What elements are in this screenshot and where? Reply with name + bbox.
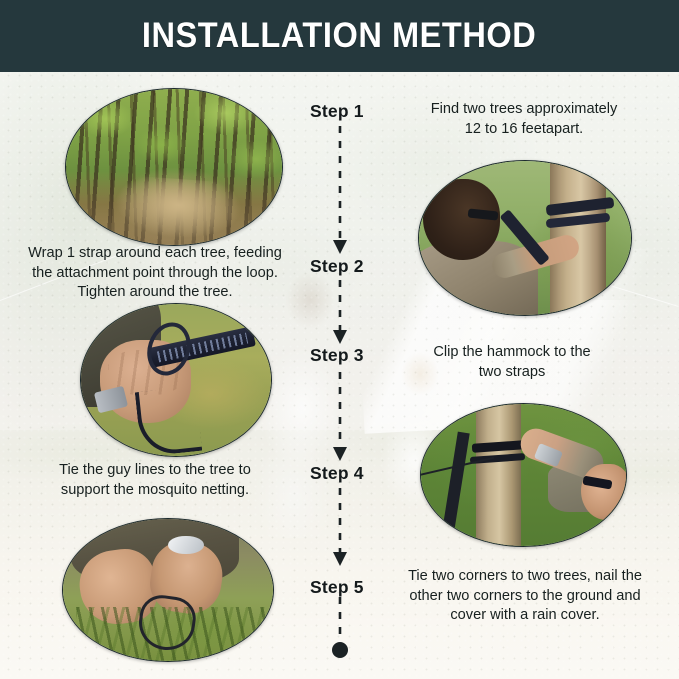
step-label-1: Step 1 <box>310 101 364 122</box>
step-caption-5-line-1: Tie two corners to two trees, nail the <box>382 567 668 587</box>
step-caption-1-line-1: Find two trees approximately <box>386 100 662 120</box>
forest-trail <box>113 175 243 246</box>
step-label-2: Step 2 <box>310 256 364 277</box>
installation-method-poster: INSTALLATION METHOD <box>0 0 679 679</box>
step-caption-1-line-2: 12 to 16 feetapart. <box>386 120 662 140</box>
step-caption-4: Tie the guy lines to the tree to support… <box>14 461 296 500</box>
carabiner-clip-image <box>81 304 271 456</box>
step-caption-2-line-2: the attachment point through the loop. <box>10 264 300 284</box>
ground-stake-photo <box>62 518 274 662</box>
forest-path-image <box>66 89 282 245</box>
step-caption-4-line-1: Tie the guy lines to the tree to <box>14 461 296 481</box>
step-caption-5-line-2: other two corners to the ground and <box>382 587 668 607</box>
step-caption-3-line-1: Clip the hammock to the <box>386 343 638 363</box>
step-caption-2-line-3: Tighten around the tree. <box>10 283 300 303</box>
step-caption-3-line-2: two straps <box>386 363 638 383</box>
step-caption-1: Find two trees approximately 12 to 16 fe… <box>386 100 662 139</box>
step-caption-4-line-2: support the mosquito netting. <box>14 481 296 501</box>
guy-line-tree-image <box>421 404 626 546</box>
guy-line-tree-photo <box>420 403 627 547</box>
carabiner-clip-photo <box>80 303 272 457</box>
step-caption-5: Tie two corners to two trees, nail the o… <box>382 567 668 626</box>
tree-trunk <box>476 403 521 547</box>
person-head <box>581 464 627 521</box>
strap-around-tree-photo <box>418 160 632 316</box>
header-bar: INSTALLATION METHOD <box>0 0 679 72</box>
ground-stake-image <box>63 519 273 661</box>
step-caption-3: Clip the hammock to the two straps <box>386 343 638 382</box>
step-caption-2-line-1: Wrap 1 strap around each tree, feeding <box>10 244 300 264</box>
step-caption-5-line-3: cover with a rain cover. <box>382 606 668 626</box>
page-title: INSTALLATION METHOD <box>142 16 537 56</box>
step-caption-2: Wrap 1 strap around each tree, feeding t… <box>10 244 300 303</box>
step-label-5: Step 5 <box>310 577 364 598</box>
forest-path-photo <box>65 88 283 246</box>
step-label-4: Step 4 <box>310 463 364 484</box>
hammock-cord <box>135 386 202 457</box>
strap-around-tree-image <box>419 161 631 315</box>
guy-line-vertical <box>442 432 470 532</box>
step-label-3: Step 3 <box>310 345 364 366</box>
